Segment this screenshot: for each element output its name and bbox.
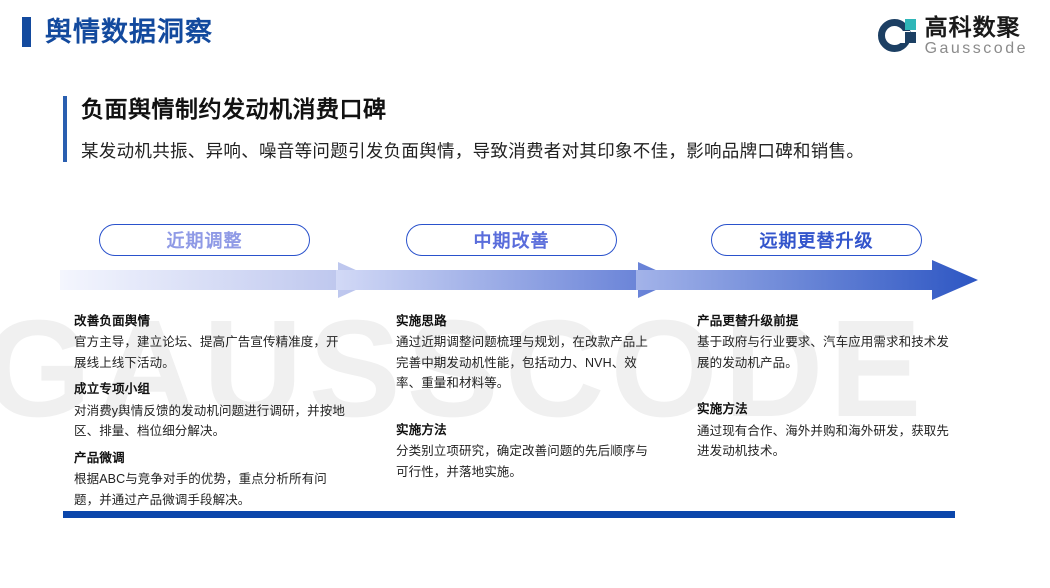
content-block: 产品微调 根据ABC与竞争对手的优势，重点分析所有问题，并通过产品微调手段解决。 <box>74 449 349 510</box>
content-block: 改善负面舆情 官方主导，建立论坛、提高广告宣传精准度，开展线上线下活动。 <box>74 312 349 373</box>
content-block: 产品更替升级前提 基于政府与行业要求、汽车应用需求和技术发展的发动机产品。 <box>697 312 955 373</box>
logo-teal-square-icon <box>905 19 916 30</box>
block-body: 分类别立项研究，确定改善问题的先后顺序与可行性，并落地实施。 <box>396 441 654 482</box>
stage-pill-label: 远期更替升级 <box>760 227 874 253</box>
title-accent-bar <box>22 17 31 47</box>
column-long-term: 产品更替升级前提 基于政府与行业要求、汽车应用需求和技术发展的发动机产品。 实施… <box>697 312 955 469</box>
column-near-term: 改善负面舆情 官方主导，建立论坛、提高广告宣传精准度，开展线上线下活动。 成立专… <box>74 312 349 517</box>
block-body: 官方主导，建立论坛、提高广告宣传精准度，开展线上线下活动。 <box>74 332 349 373</box>
block-title: 产品微调 <box>74 449 349 467</box>
block-title: 成立专项小组 <box>74 380 349 398</box>
logo-navy-square-icon <box>905 32 916 43</box>
lead-callout: 负面舆情制约发动机消费口碑 某发动机共振、异响、噪音等问题引发负面舆情，导致消费… <box>63 96 981 162</box>
stage-pill-label: 近期调整 <box>167 227 243 253</box>
logo-text-group: 高科数聚 Gausscode <box>925 16 1028 57</box>
block-body: 对消费y舆情反馈的发动机问题进行调研，并按地区、排量、档位细分解决。 <box>74 401 349 442</box>
block-title: 实施方法 <box>697 400 955 418</box>
block-spacer <box>697 380 955 400</box>
arrow-segment-3 <box>636 260 978 300</box>
block-title: 改善负面舆情 <box>74 312 349 330</box>
stage-pill-long-term[interactable]: 远期更替升级 <box>711 224 922 256</box>
lead-subtitle: 某发动机共振、异响、噪音等问题引发负面舆情，导致消费者对其印象不佳，影响品牌口碑… <box>81 140 981 163</box>
page-title: 舆情数据洞察 <box>45 19 213 46</box>
header-title-group: 舆情数据洞察 <box>22 17 213 47</box>
content-block: 实施思路 通过近期调整问题梳理与规划，在改款产品上完善中期发动机性能，包括动力、… <box>396 312 654 394</box>
block-title: 实施思路 <box>396 312 654 330</box>
block-body: 根据ABC与竞争对手的优势，重点分析所有问题，并通过产品微调手段解决。 <box>74 469 349 510</box>
stage-pill-mid-term[interactable]: 中期改善 <box>406 224 617 256</box>
arrow-segment-1 <box>60 262 378 298</box>
block-body: 基于政府与行业要求、汽车应用需求和技术发展的发动机产品。 <box>697 332 955 373</box>
arrow-segment-2 <box>336 262 678 298</box>
block-title: 实施方法 <box>396 421 654 439</box>
stage-pill-near-term[interactable]: 近期调整 <box>99 224 310 256</box>
stage-pill-label: 中期改善 <box>474 227 550 253</box>
column-mid-term: 实施思路 通过近期调整问题梳理与规划，在改款产品上完善中期发动机性能，包括动力、… <box>396 312 654 489</box>
content-block: 成立专项小组 对消费y舆情反馈的发动机问题进行调研，并按地区、排量、档位细分解决… <box>74 380 349 441</box>
brand-logo: 高科数聚 Gausscode <box>878 13 1028 59</box>
block-title: 产品更替升级前提 <box>697 312 955 330</box>
slide-header: 舆情数据洞察 高科数聚 Gausscode <box>0 0 1050 72</box>
logo-name-cn: 高科数聚 <box>925 16 1028 39</box>
content-block: 实施方法 分类别立项研究，确定改善问题的先后顺序与可行性，并落地实施。 <box>396 421 654 482</box>
block-body: 通过现有合作、海外并购和海外研发，获取先进发动机技术。 <box>697 421 955 462</box>
block-body: 通过近期调整问题梳理与规划，在改款产品上完善中期发动机性能，包括动力、NVH、效… <box>396 332 654 394</box>
progression-arrow-icon <box>60 258 980 302</box>
footer-accent-bar <box>63 511 955 518</box>
lead-heading: 负面舆情制约发动机消费口碑 <box>81 96 981 124</box>
block-spacer <box>396 401 654 421</box>
logo-name-en: Gausscode <box>925 41 1028 57</box>
content-block: 实施方法 通过现有合作、海外并购和海外研发，获取先进发动机技术。 <box>697 400 955 461</box>
gausscode-logo-icon <box>878 17 916 55</box>
